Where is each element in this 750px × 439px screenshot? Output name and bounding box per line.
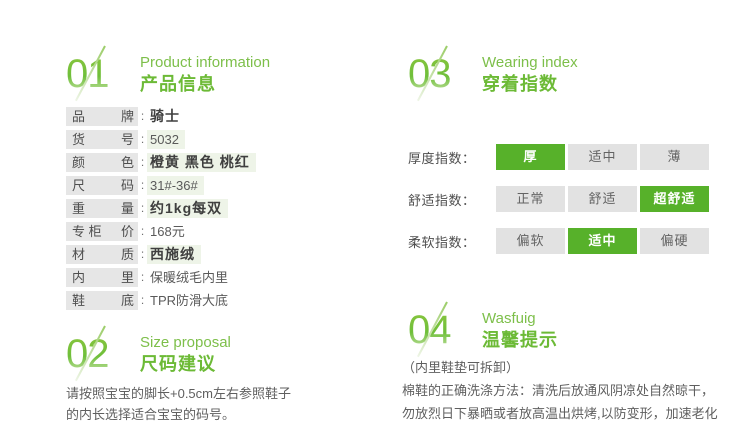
spec-label-part-a: 鞋 <box>72 291 85 310</box>
spec-label: 货 号 <box>66 130 138 149</box>
section-number-02: 02 <box>66 332 109 376</box>
wearing-index-option-thin[interactable]: 薄 <box>640 144 709 170</box>
table-row: 鞋 底 : TPR防滑大底 <box>66 291 256 310</box>
spec-label-part-a: 颜 <box>72 153 85 172</box>
wearing-index-option-medium[interactable]: 适中 <box>568 228 637 254</box>
section-number-04: 04 <box>408 308 451 352</box>
spec-label-part-b: 色 <box>121 153 134 172</box>
size-proposal-line-1: 请按照宝宝的脚长+0.5cm左右参照鞋子 <box>66 383 291 404</box>
table-row: 颜 色 : 橙黄 黑色 桃红 <box>66 153 256 172</box>
spec-colon: : <box>138 176 147 195</box>
spec-label-part-a: 品 <box>72 107 85 126</box>
spec-label: 鞋 底 <box>66 291 138 310</box>
spec-label: 专 柜 价 <box>66 222 138 241</box>
warm-tips-line-3: 勿放烈日下暴晒或者放高温出烘烤,以防变形，加速老化 <box>402 403 718 424</box>
table-row: 专 柜 价 : 168元 <box>66 222 256 241</box>
section-en-title-01: Product information <box>140 54 270 71</box>
wearing-index-option-medium[interactable]: 适中 <box>568 144 637 170</box>
wearing-index-options: 正常 舒适 超舒适 <box>496 186 712 212</box>
wearing-index-options: 偏软 适中 偏硬 <box>496 228 712 254</box>
section-cn-title-03: 穿着指数 <box>482 73 558 95</box>
wearing-index-label: 柔软指数： <box>408 232 496 251</box>
spec-label: 重 量 <box>66 199 138 218</box>
wearing-index-option-normal[interactable]: 正常 <box>496 186 565 212</box>
spec-label-part-b: 码 <box>121 176 134 195</box>
spec-value-weight: 约1kg每双 <box>147 199 228 218</box>
section-cn-title-01: 产品信息 <box>140 73 216 95</box>
section-number-03: 03 <box>408 52 451 96</box>
spec-label-part-b: 底 <box>121 291 134 310</box>
table-row: 重 量 : 约1kg每双 <box>66 199 256 218</box>
table-row: 尺 码 : 31#-36# <box>66 176 256 195</box>
spec-label-part-a: 尺 <box>72 176 85 195</box>
spec-label: 尺 码 <box>66 176 138 195</box>
spec-label-part-b: 牌 <box>121 107 134 126</box>
section-en-title-03: Wearing index <box>482 54 578 71</box>
table-row: 材 质 : 西施绒 <box>66 245 256 264</box>
spec-label: 材 质 <box>66 245 138 264</box>
spec-value-counter-price: 168元 <box>147 222 191 241</box>
spec-colon: : <box>138 222 147 241</box>
wearing-index-row-thickness: 厚度指数： 厚 适中 薄 <box>408 144 712 170</box>
section-en-title-02: Size proposal <box>140 334 231 351</box>
spec-label-part-b: 号 <box>121 130 134 149</box>
wearing-index-option-comfortable[interactable]: 舒适 <box>568 186 637 212</box>
wearing-index-label: 舒适指数： <box>408 190 496 209</box>
section-en-title-04: Wasfuig <box>482 310 536 327</box>
spec-value-size: 31#-36# <box>147 176 204 195</box>
spec-label: 品 牌 <box>66 107 138 126</box>
spec-value-lining: 保暖绒毛内里 <box>147 268 234 287</box>
spec-value-brand: 骑士 <box>147 107 186 126</box>
wearing-index-row-softness: 柔软指数： 偏软 适中 偏硬 <box>408 228 712 254</box>
spec-value-item-number: 5032 <box>147 130 185 149</box>
spec-colon: : <box>138 199 147 218</box>
spec-colon: : <box>138 107 147 126</box>
spec-value-color: 橙黄 黑色 桃红 <box>147 153 256 172</box>
product-spec-table: 品 牌 : 骑士 货 号 : 5032 颜 色 : 橙黄 黑色 桃红 尺 <box>66 107 256 314</box>
spec-label-part-a: 材 <box>72 245 85 264</box>
wearing-index-option-soft[interactable]: 偏软 <box>496 228 565 254</box>
spec-value-sole: TPR防滑大底 <box>147 291 234 310</box>
table-row: 品 牌 : 骑士 <box>66 107 256 126</box>
spec-colon: : <box>138 130 147 149</box>
wearing-index-option-hard[interactable]: 偏硬 <box>640 228 709 254</box>
spec-label-part-a: 专 柜 <box>72 222 102 241</box>
wearing-index-row-comfort: 舒适指数： 正常 舒适 超舒适 <box>408 186 712 212</box>
section-cn-title-02: 尺码建议 <box>140 353 216 375</box>
wearing-index-options: 厚 适中 薄 <box>496 144 712 170</box>
table-row: 内 里 : 保暖绒毛内里 <box>66 268 256 287</box>
spec-label-part-b: 质 <box>121 245 134 264</box>
spec-label: 内 里 <box>66 268 138 287</box>
section-cn-title-04: 温馨提示 <box>482 329 558 351</box>
spec-label-part-a: 重 <box>72 199 85 218</box>
spec-label: 颜 色 <box>66 153 138 172</box>
spec-colon: : <box>138 153 147 172</box>
wearing-index-option-thick[interactable]: 厚 <box>496 144 565 170</box>
spec-label-part-b: 里 <box>121 268 134 287</box>
spec-label-part-b: 价 <box>121 222 134 241</box>
wearing-index-label: 厚度指数： <box>408 148 496 167</box>
product-detail-page: 01 Product information 产品信息 品 牌 : 骑士 货 号… <box>0 0 750 439</box>
spec-colon: : <box>138 291 147 310</box>
table-row: 货 号 : 5032 <box>66 130 256 149</box>
spec-colon: : <box>138 245 147 264</box>
section-number-01: 01 <box>66 52 109 96</box>
spec-label-part-b: 量 <box>121 199 134 218</box>
spec-label-part-a: 内 <box>72 268 85 287</box>
spec-label-part-a: 货 <box>72 130 85 149</box>
wearing-index-option-super-comfortable[interactable]: 超舒适 <box>640 186 709 212</box>
size-proposal-line-2: 的内长选择适合宝宝的码号。 <box>66 404 235 425</box>
spec-colon: : <box>138 268 147 287</box>
warm-tips-line-1: （内里鞋垫可拆卸） <box>402 357 519 378</box>
spec-value-material: 西施绒 <box>147 245 201 264</box>
warm-tips-line-2: 棉鞋的正确洗涤方法：清洗后放通风阴凉处自然晾干， <box>402 380 714 401</box>
